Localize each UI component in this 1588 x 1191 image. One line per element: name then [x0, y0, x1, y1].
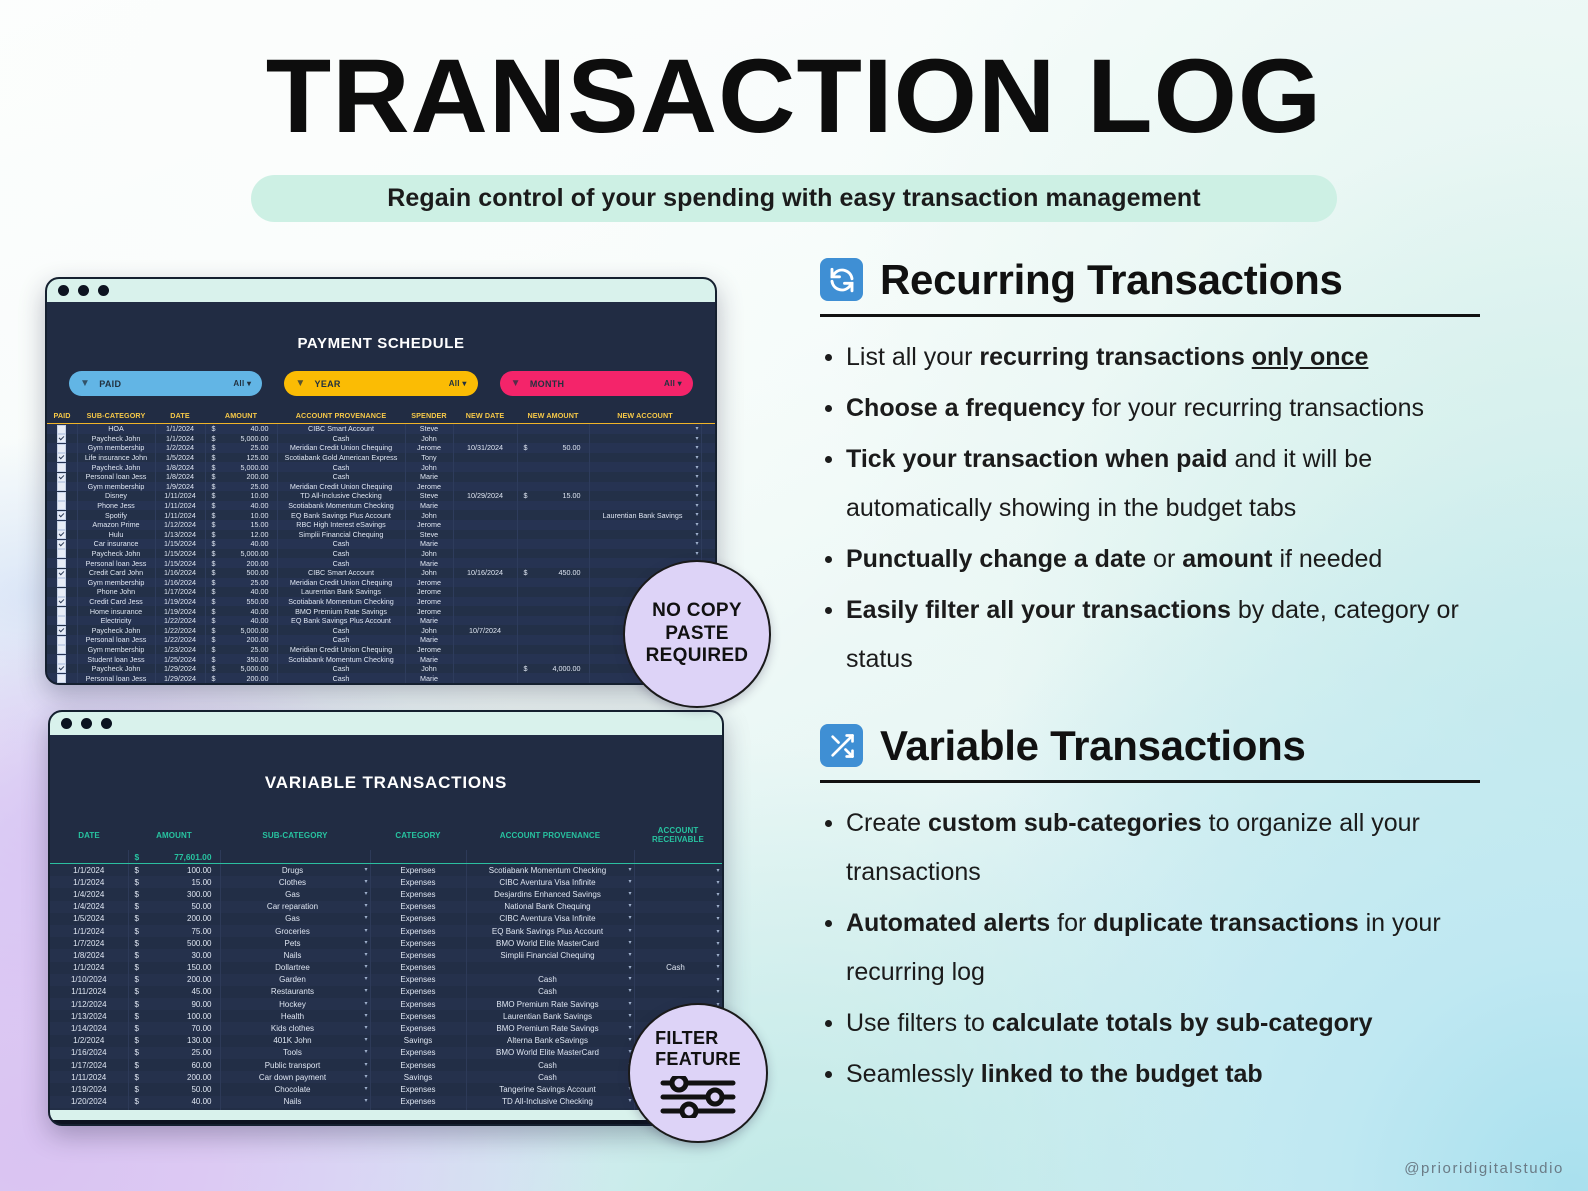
- maximize-dot-icon[interactable]: [101, 718, 112, 729]
- table-row[interactable]: 1/1/2024$100.00▾DrugsExpenses▾Scotiabank…: [50, 864, 722, 877]
- table-row[interactable]: Electricity1/22/2024$40.00EQ Bank Saving…: [47, 616, 717, 626]
- category-cell[interactable]: Savings: [370, 1035, 466, 1047]
- amount-cell[interactable]: [517, 539, 589, 549]
- date-cell[interactable]: 1/17/2024: [155, 587, 205, 597]
- checkbox-icon[interactable]: [57, 569, 66, 578]
- account-provenance-cell[interactable]: ▾: [466, 962, 634, 974]
- new-date-cell[interactable]: [453, 635, 517, 645]
- category-cell[interactable]: Expenses: [370, 1083, 466, 1095]
- table-row[interactable]: Amazon Prime1/12/2024$15.00RBC High Inte…: [47, 520, 717, 530]
- category-cell[interactable]: Expenses: [370, 974, 466, 986]
- amount-cell[interactable]: $200.00: [205, 558, 277, 568]
- new-spender-cell[interactable]: ▾: [701, 549, 717, 559]
- amount-cell[interactable]: $15.00: [517, 491, 589, 501]
- new-account-cell[interactable]: ▾Laurentian Bank Savings: [589, 510, 701, 520]
- account-provenance-cell[interactable]: ▾Cash: [466, 974, 634, 986]
- date-cell[interactable]: 1/11/2024: [155, 491, 205, 501]
- table-row[interactable]: 1/12/2024$90.00▾HockeyExpenses▾BMO Premi…: [50, 998, 722, 1010]
- new-account-cell[interactable]: ▾: [589, 520, 701, 530]
- date-cell[interactable]: 1/11/2024: [50, 1071, 128, 1083]
- checkbox-icon[interactable]: [57, 473, 66, 482]
- account-provenance-cell[interactable]: Meridian Credit Union Chequing: [277, 645, 405, 655]
- spender-cell[interactable]: John: [405, 462, 453, 472]
- spender-cell[interactable]: Jerome: [405, 578, 453, 588]
- account-provenance-cell[interactable]: Meridian Credit Union Chequing: [277, 578, 405, 588]
- spender-cell[interactable]: Marie: [405, 501, 453, 511]
- sub-category-cell[interactable]: Personal loan Jess: [77, 472, 155, 482]
- date-cell[interactable]: 1/1/2024: [50, 962, 128, 974]
- new-date-cell[interactable]: [453, 539, 517, 549]
- table-row[interactable]: 1/5/2024$200.00▾GasExpenses▾CIBC Aventur…: [50, 913, 722, 925]
- account-provenance-cell[interactable]: EQ Bank Savings Plus Account: [277, 510, 405, 520]
- date-cell[interactable]: 1/19/2024: [50, 1083, 128, 1095]
- amount-cell[interactable]: $25.00: [205, 683, 277, 685]
- account-provenance-cell[interactable]: Simplii Financial Chequing: [277, 530, 405, 540]
- amount-cell[interactable]: $450.00: [517, 568, 589, 578]
- new-date-cell[interactable]: [453, 501, 517, 511]
- table-row[interactable]: 1/1/2024$15.00▾ClothesExpenses▾CIBC Aven…: [50, 876, 722, 888]
- category-cell[interactable]: Savings: [370, 1071, 466, 1083]
- amount-cell[interactable]: $200.00: [128, 974, 220, 986]
- date-cell[interactable]: 1/1/2024: [50, 864, 128, 877]
- filter-pill-year[interactable]: ▼YEARAll ▾: [284, 371, 477, 396]
- spender-cell[interactable]: Jerome: [405, 645, 453, 655]
- table-row[interactable]: 1/8/2024$30.00▾NailsExpenses▾Simplii Fin…: [50, 949, 722, 961]
- amount-cell[interactable]: $30.00: [128, 949, 220, 961]
- sub-category-cell[interactable]: ▾Gas: [220, 888, 370, 900]
- table-row[interactable]: 1/7/2024$500.00▾PetsExpenses▾BMO World E…: [50, 937, 722, 949]
- filter-pill-month[interactable]: ▼MONTHAll ▾: [500, 371, 693, 396]
- paid-checkbox-cell[interactable]: [47, 424, 77, 434]
- spender-cell[interactable]: John: [405, 510, 453, 520]
- date-cell[interactable]: 1/5/2024: [50, 913, 128, 925]
- column-header[interactable]: SUB-CATEGORY: [220, 823, 370, 850]
- table-row[interactable]: Personal loan Jess1/29/2024$200.00CashMa…: [47, 673, 717, 683]
- table-row[interactable]: HOA1/1/2024$40.00CIBC Smart AccountSteve…: [47, 424, 717, 434]
- date-cell[interactable]: 1/4/2024: [50, 888, 128, 900]
- account-receivable-cell[interactable]: ▾: [634, 901, 722, 913]
- amount-cell[interactable]: [517, 520, 589, 530]
- new-spender-cell[interactable]: ▾: [701, 443, 717, 453]
- table-row[interactable]: Phone Jess1/11/2024$40.00Scotiabank Mome…: [47, 501, 717, 511]
- amount-cell[interactable]: $40.00: [205, 501, 277, 511]
- date-cell[interactable]: 1/11/2024: [155, 501, 205, 511]
- checkbox-icon[interactable]: [57, 434, 66, 443]
- account-receivable-cell[interactable]: ▾: [634, 974, 722, 986]
- account-provenance-cell[interactable]: Meridian Credit Union Chequing: [277, 482, 405, 492]
- column-header[interactable]: NEW AMOUNT: [517, 408, 589, 424]
- table-row[interactable]: Gym membership1/30/2024$25.00Meridian Cr…: [47, 683, 717, 685]
- sub-category-cell[interactable]: ▾Garden: [220, 974, 370, 986]
- paid-checkbox-cell[interactable]: [47, 597, 77, 607]
- amount-cell[interactable]: [517, 530, 589, 540]
- table-row[interactable]: Paycheck John1/22/2024$5,000.00CashJohn1…: [47, 625, 717, 635]
- amount-cell[interactable]: [517, 587, 589, 597]
- date-cell[interactable]: 1/16/2024: [155, 578, 205, 588]
- amount-cell[interactable]: $25.00: [205, 443, 277, 453]
- spender-cell[interactable]: Marie: [405, 558, 453, 568]
- checkbox-icon[interactable]: [57, 530, 66, 539]
- spender-cell[interactable]: Steve: [405, 530, 453, 540]
- table-row[interactable]: Home insurance1/19/2024$40.00BMO Premium…: [47, 606, 717, 616]
- amount-cell[interactable]: [517, 616, 589, 626]
- new-date-cell[interactable]: 10/29/2024: [453, 491, 517, 501]
- date-cell[interactable]: 1/12/2024: [155, 520, 205, 530]
- date-cell[interactable]: 1/2/2024: [155, 443, 205, 453]
- date-cell[interactable]: 1/1/2024: [155, 434, 205, 444]
- new-account-cell[interactable]: ▾: [589, 530, 701, 540]
- paid-checkbox-cell[interactable]: [47, 453, 77, 463]
- sub-category-cell[interactable]: Credit Card Jess: [77, 597, 155, 607]
- table-row[interactable]: Gym membership1/16/2024$25.00Meridian Cr…: [47, 578, 717, 588]
- checkbox-icon[interactable]: [57, 453, 66, 462]
- account-provenance-cell[interactable]: ▾BMO Premium Rate Savings: [466, 998, 634, 1010]
- account-provenance-cell[interactable]: ▾BMO World Elite MasterCard: [466, 1047, 634, 1059]
- table-row[interactable]: 1/2/2024$130.00▾401K JohnSavings▾Alterna…: [50, 1035, 722, 1047]
- new-date-cell[interactable]: [453, 482, 517, 492]
- new-date-cell[interactable]: 10/16/2024: [453, 568, 517, 578]
- new-date-cell[interactable]: [453, 453, 517, 463]
- spender-cell[interactable]: John: [405, 549, 453, 559]
- date-cell[interactable]: 1/9/2024: [155, 482, 205, 492]
- checkbox-icon[interactable]: [57, 626, 66, 635]
- category-cell[interactable]: Expenses: [370, 1059, 466, 1071]
- date-cell[interactable]: 1/12/2024: [50, 998, 128, 1010]
- amount-cell[interactable]: $5,000.00: [205, 434, 277, 444]
- account-provenance-cell[interactable]: Cash: [277, 625, 405, 635]
- date-cell[interactable]: 1/13/2024: [155, 530, 205, 540]
- sub-category-cell[interactable]: ▾Restaurants: [220, 986, 370, 998]
- sub-category-cell[interactable]: Spotify: [77, 510, 155, 520]
- column-header[interactable]: NEW ACCOUNT: [589, 408, 701, 424]
- paid-checkbox-cell[interactable]: [47, 462, 77, 472]
- column-header[interactable]: ACCOUNT PROVENANCE: [277, 408, 405, 424]
- sub-category-cell[interactable]: ▾Hockey: [220, 998, 370, 1010]
- new-date-cell[interactable]: [453, 654, 517, 664]
- date-cell[interactable]: 1/1/2024: [155, 424, 205, 434]
- amount-cell[interactable]: [517, 549, 589, 559]
- column-header[interactable]: ACCOUNT PROVENANCE: [466, 823, 634, 850]
- checkbox-icon[interactable]: [57, 444, 66, 453]
- new-date-cell[interactable]: [453, 510, 517, 520]
- checkbox-icon[interactable]: [57, 463, 66, 472]
- category-cell[interactable]: Expenses: [370, 949, 466, 961]
- date-cell[interactable]: 1/5/2024: [155, 453, 205, 463]
- amount-cell[interactable]: $45.00: [128, 986, 220, 998]
- account-provenance-cell[interactable]: Meridian Credit Union Chequing: [277, 443, 405, 453]
- checkbox-icon[interactable]: [57, 645, 66, 654]
- new-date-cell[interactable]: [453, 683, 517, 685]
- column-header[interactable]: DATE: [50, 823, 128, 850]
- column-header[interactable]: DATE: [155, 408, 205, 424]
- account-provenance-cell[interactable]: ▾Desjardins Enhanced Savings: [466, 888, 634, 900]
- account-provenance-cell[interactable]: ▾Cash: [466, 1071, 634, 1083]
- amount-cell[interactable]: $100.00: [128, 1010, 220, 1022]
- spender-cell[interactable]: John: [405, 568, 453, 578]
- date-cell[interactable]: 1/22/2024: [155, 616, 205, 626]
- account-receivable-cell[interactable]: ▾: [634, 925, 722, 937]
- checkbox-icon[interactable]: [57, 674, 66, 683]
- sub-category-cell[interactable]: ▾Clothes: [220, 876, 370, 888]
- category-cell[interactable]: Expenses: [370, 1010, 466, 1022]
- account-receivable-cell[interactable]: ▾: [634, 986, 722, 998]
- amount-cell[interactable]: $200.00: [205, 635, 277, 645]
- amount-cell[interactable]: $5,000.00: [205, 462, 277, 472]
- date-cell[interactable]: 1/29/2024: [155, 664, 205, 674]
- sub-category-cell[interactable]: ▾Nails: [220, 949, 370, 961]
- account-provenance-cell[interactable]: TD All-Inclusive Checking: [277, 491, 405, 501]
- date-cell[interactable]: 1/19/2024: [155, 606, 205, 616]
- date-cell[interactable]: 1/14/2024: [50, 1022, 128, 1034]
- table-row[interactable]: 1/20/2024$40.00▾NailsExpenses▾TD All-Inc…: [50, 1096, 722, 1108]
- paid-checkbox-cell[interactable]: [47, 443, 77, 453]
- maximize-dot-icon[interactable]: [98, 285, 109, 296]
- new-spender-cell[interactable]: ▾Marie: [701, 462, 717, 472]
- paid-checkbox-cell[interactable]: [47, 549, 77, 559]
- new-date-cell[interactable]: [453, 462, 517, 472]
- amount-cell[interactable]: [517, 510, 589, 520]
- table-row[interactable]: Phone John1/17/2024$40.00Laurentian Bank…: [47, 587, 717, 597]
- column-header[interactable]: AMOUNT: [205, 408, 277, 424]
- amount-cell[interactable]: $50.00: [128, 1083, 220, 1095]
- amount-cell[interactable]: $75.00: [128, 925, 220, 937]
- sub-category-cell[interactable]: ▾Kids clothes: [220, 1022, 370, 1034]
- checkbox-icon[interactable]: [57, 684, 66, 685]
- amount-cell[interactable]: $100.00: [128, 864, 220, 877]
- date-cell[interactable]: 1/7/2024: [50, 937, 128, 949]
- paid-checkbox-cell[interactable]: [47, 635, 77, 645]
- account-provenance-cell[interactable]: ▾CIBC Aventura Visa Infinite: [466, 876, 634, 888]
- sub-category-cell[interactable]: Gym membership: [77, 645, 155, 655]
- account-provenance-cell[interactable]: ▾BMO Premium Rate Savings: [466, 1022, 634, 1034]
- spender-cell[interactable]: Tony: [405, 453, 453, 463]
- table-row[interactable]: 1/17/2024$60.00▾Public transportExpenses…: [50, 1059, 722, 1071]
- spender-cell[interactable]: Marie: [405, 635, 453, 645]
- category-cell[interactable]: Expenses: [370, 1096, 466, 1108]
- amount-cell[interactable]: $5,000.00: [205, 664, 277, 674]
- amount-cell[interactable]: [517, 501, 589, 511]
- new-spender-cell[interactable]: ▾: [701, 482, 717, 492]
- amount-cell[interactable]: [517, 635, 589, 645]
- account-provenance-cell[interactable]: Cash: [277, 558, 405, 568]
- amount-cell[interactable]: $50.00: [128, 901, 220, 913]
- paid-checkbox-cell[interactable]: [47, 491, 77, 501]
- new-account-cell[interactable]: ▾: [589, 453, 701, 463]
- amount-cell[interactable]: $90.00: [128, 998, 220, 1010]
- table-row[interactable]: 1/11/2024$45.00▾RestaurantsExpenses▾Cash…: [50, 986, 722, 998]
- date-cell[interactable]: 1/15/2024: [155, 558, 205, 568]
- category-cell[interactable]: Expenses: [370, 937, 466, 949]
- sub-category-cell[interactable]: Phone John: [77, 587, 155, 597]
- amount-cell[interactable]: $40.00: [205, 539, 277, 549]
- paid-checkbox-cell[interactable]: [47, 673, 77, 683]
- new-spender-cell[interactable]: ▾: [701, 434, 717, 444]
- sub-category-cell[interactable]: Amazon Prime: [77, 520, 155, 530]
- account-provenance-cell[interactable]: Cash: [277, 539, 405, 549]
- new-date-cell[interactable]: [453, 424, 517, 434]
- amount-cell[interactable]: [517, 578, 589, 588]
- new-spender-cell[interactable]: ▾: [701, 501, 717, 511]
- spender-cell[interactable]: Jerome: [405, 587, 453, 597]
- account-provenance-cell[interactable]: Cash: [277, 472, 405, 482]
- spender-cell[interactable]: Jerome: [405, 683, 453, 685]
- category-cell[interactable]: Expenses: [370, 962, 466, 974]
- amount-cell[interactable]: [517, 683, 589, 685]
- category-cell[interactable]: Expenses: [370, 876, 466, 888]
- date-cell[interactable]: 1/1/2024: [50, 925, 128, 937]
- spender-cell[interactable]: Steve: [405, 491, 453, 501]
- date-cell[interactable]: 1/10/2024: [50, 974, 128, 986]
- account-provenance-cell[interactable]: ▾Scotiabank Momentum Checking: [466, 864, 634, 877]
- checkbox-icon[interactable]: [57, 588, 66, 597]
- spender-cell[interactable]: Jerome: [405, 443, 453, 453]
- account-provenance-cell[interactable]: Scotiabank Momentum Checking: [277, 501, 405, 511]
- account-receivable-cell[interactable]: ▾: [634, 864, 722, 877]
- amount-cell[interactable]: $15.00: [128, 876, 220, 888]
- account-provenance-cell[interactable]: ▾Simplii Financial Chequing: [466, 949, 634, 961]
- new-date-cell[interactable]: 10/7/2024: [453, 625, 517, 635]
- amount-cell[interactable]: $4,000.00: [517, 664, 589, 674]
- checkbox-icon[interactable]: [57, 549, 66, 558]
- new-date-cell[interactable]: [453, 434, 517, 444]
- date-cell[interactable]: 1/11/2024: [155, 510, 205, 520]
- table-row[interactable]: 1/1/2024$75.00▾GroceriesExpenses▾EQ Bank…: [50, 925, 722, 937]
- category-cell[interactable]: Expenses: [370, 925, 466, 937]
- sub-category-cell[interactable]: Paycheck John: [77, 462, 155, 472]
- account-receivable-cell[interactable]: ▾Cash: [634, 962, 722, 974]
- date-cell[interactable]: 1/8/2024: [155, 472, 205, 482]
- new-date-cell[interactable]: [453, 597, 517, 607]
- new-date-cell[interactable]: [453, 616, 517, 626]
- sub-category-cell[interactable]: ▾Tools: [220, 1047, 370, 1059]
- checkbox-icon[interactable]: [57, 664, 66, 673]
- table-row[interactable]: Hulu1/13/2024$12.00Simplii Financial Che…: [47, 530, 717, 540]
- sub-category-cell[interactable]: ▾Groceries: [220, 925, 370, 937]
- table-row[interactable]: Personal loan Jess1/15/2024$200.00CashMa…: [47, 558, 717, 568]
- amount-cell[interactable]: $25.00: [205, 482, 277, 492]
- date-cell[interactable]: 1/16/2024: [50, 1047, 128, 1059]
- amount-cell[interactable]: [517, 558, 589, 568]
- date-cell[interactable]: 1/13/2024: [50, 1010, 128, 1022]
- spender-cell[interactable]: Jerome: [405, 520, 453, 530]
- sub-category-cell[interactable]: ▾Car reparation: [220, 901, 370, 913]
- table-row[interactable]: 1/1/2024$150.00▾DollartreeExpenses▾▾Cash: [50, 962, 722, 974]
- amount-cell[interactable]: [517, 462, 589, 472]
- sub-category-cell[interactable]: Gym membership: [77, 443, 155, 453]
- paid-checkbox-cell[interactable]: [47, 539, 77, 549]
- account-provenance-cell[interactable]: Cash: [277, 664, 405, 674]
- amount-cell[interactable]: $5,000.00: [205, 549, 277, 559]
- account-receivable-cell[interactable]: ▾: [634, 913, 722, 925]
- filter-pill-paid[interactable]: ▼PAIDAll ▾: [69, 371, 262, 396]
- sub-category-cell[interactable]: ▾Pets: [220, 937, 370, 949]
- new-date-cell[interactable]: [453, 664, 517, 674]
- amount-cell[interactable]: $130.00: [128, 1035, 220, 1047]
- account-receivable-cell[interactable]: ▾: [634, 937, 722, 949]
- new-date-cell[interactable]: [453, 673, 517, 683]
- sub-category-cell[interactable]: ▾401K John: [220, 1035, 370, 1047]
- new-account-cell[interactable]: ▾: [589, 472, 701, 482]
- paid-checkbox-cell[interactable]: [47, 472, 77, 482]
- account-receivable-cell[interactable]: ▾: [634, 876, 722, 888]
- sub-category-cell[interactable]: Disney: [77, 491, 155, 501]
- table-row[interactable]: Paycheck John1/8/2024$5,000.00CashJohn▾▾…: [47, 462, 717, 472]
- account-receivable-cell[interactable]: ▾: [634, 888, 722, 900]
- sub-category-cell[interactable]: Paycheck John: [77, 664, 155, 674]
- spender-cell[interactable]: Jerome: [405, 597, 453, 607]
- category-cell[interactable]: Expenses: [370, 1047, 466, 1059]
- amount-cell[interactable]: [517, 673, 589, 683]
- new-date-cell[interactable]: [453, 549, 517, 559]
- sub-category-cell[interactable]: ▾Chocolate: [220, 1083, 370, 1095]
- amount-cell[interactable]: [517, 482, 589, 492]
- amount-cell[interactable]: $550.00: [205, 597, 277, 607]
- amount-cell[interactable]: [517, 597, 589, 607]
- date-cell[interactable]: 1/25/2024: [155, 654, 205, 664]
- date-cell[interactable]: 1/22/2024: [155, 625, 205, 635]
- account-provenance-cell[interactable]: ▾EQ Bank Savings Plus Account: [466, 925, 634, 937]
- table-row[interactable]: 1/19/2024$50.00▾ChocolateExpenses▾Tanger…: [50, 1083, 722, 1095]
- date-cell[interactable]: 1/20/2024: [50, 1096, 128, 1108]
- account-provenance-cell[interactable]: Cash: [277, 462, 405, 472]
- amount-cell[interactable]: $25.00: [205, 645, 277, 655]
- date-cell[interactable]: 1/15/2024: [155, 549, 205, 559]
- date-cell[interactable]: 1/15/2024: [155, 539, 205, 549]
- new-account-cell[interactable]: ▾: [589, 549, 701, 559]
- new-date-cell[interactable]: [453, 472, 517, 482]
- amount-cell[interactable]: $200.00: [205, 472, 277, 482]
- sub-category-cell[interactable]: ▾Gas: [220, 913, 370, 925]
- amount-cell[interactable]: $60.00: [128, 1059, 220, 1071]
- table-row[interactable]: 1/14/2024$70.00▾Kids clothesExpenses▾BMO…: [50, 1022, 722, 1034]
- amount-cell[interactable]: [517, 625, 589, 635]
- checkbox-icon[interactable]: [57, 511, 66, 520]
- spender-cell[interactable]: Marie: [405, 673, 453, 683]
- paid-checkbox-cell[interactable]: [47, 568, 77, 578]
- sub-category-cell[interactable]: Personal loan Jess: [77, 558, 155, 568]
- new-account-cell[interactable]: ▾: [589, 434, 701, 444]
- amount-cell[interactable]: $12.00: [205, 530, 277, 540]
- account-provenance-cell[interactable]: ▾BMO World Elite MasterCard: [466, 937, 634, 949]
- table-row[interactable]: 1/11/2024$200.00▾Car down paymentSavings…: [50, 1071, 722, 1083]
- amount-cell[interactable]: $300.00: [128, 888, 220, 900]
- sub-category-cell[interactable]: Home insurance: [77, 606, 155, 616]
- checkbox-icon[interactable]: [57, 521, 66, 530]
- paid-checkbox-cell[interactable]: [47, 530, 77, 540]
- sub-category-cell[interactable]: ▾Public transport: [220, 1059, 370, 1071]
- table-row[interactable]: Gym membership1/2/2024$25.00Meridian Cre…: [47, 443, 717, 453]
- minimize-dot-icon[interactable]: [81, 718, 92, 729]
- sub-category-cell[interactable]: Personal loan Jess: [77, 635, 155, 645]
- sub-category-cell[interactable]: Paycheck John: [77, 549, 155, 559]
- checkbox-icon[interactable]: [57, 501, 66, 510]
- category-cell[interactable]: Expenses: [370, 888, 466, 900]
- account-provenance-cell[interactable]: EQ Bank Savings Plus Account: [277, 616, 405, 626]
- column-header[interactable]: AMOUNT: [128, 823, 220, 850]
- new-date-cell[interactable]: 10/31/2024: [453, 443, 517, 453]
- sub-category-cell[interactable]: Credit Card John: [77, 568, 155, 578]
- account-provenance-cell[interactable]: ▾Alterna Bank eSavings: [466, 1035, 634, 1047]
- date-cell[interactable]: 1/19/2024: [155, 597, 205, 607]
- new-account-cell[interactable]: ▾: [589, 539, 701, 549]
- new-spender-cell[interactable]: ▾: [701, 491, 717, 501]
- account-provenance-cell[interactable]: ▾Cash: [466, 1059, 634, 1071]
- amount-cell[interactable]: $40.00: [205, 587, 277, 597]
- paid-checkbox-cell[interactable]: [47, 578, 77, 588]
- account-provenance-cell[interactable]: Cash: [277, 434, 405, 444]
- column-header[interactable]: SPENDER: [405, 408, 453, 424]
- date-cell[interactable]: 1/4/2024: [50, 901, 128, 913]
